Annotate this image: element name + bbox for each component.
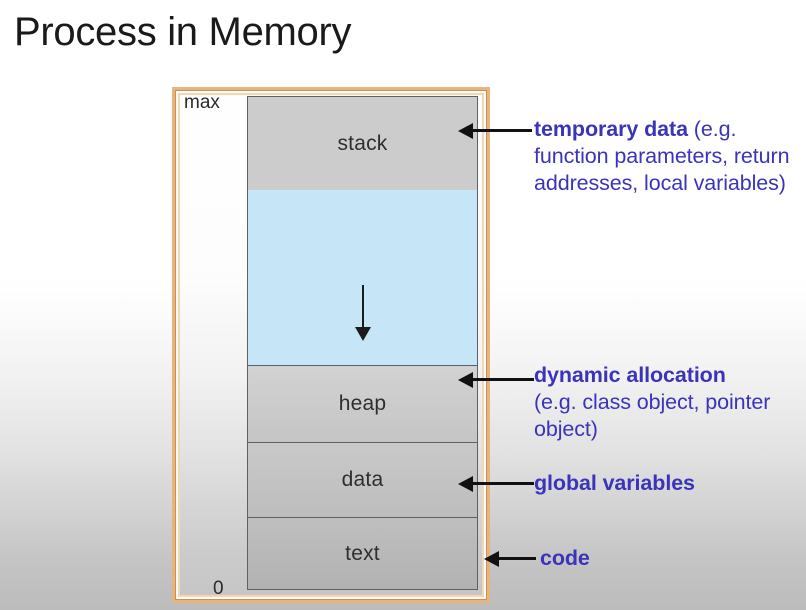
annotation-dynamic-allocation-detail: (e.g. class object, pointer object)	[534, 390, 770, 441]
memory-layout-column: stack heap data text	[247, 96, 478, 590]
leader-line-heap	[472, 378, 534, 381]
leader-arrow-heap-icon	[458, 372, 473, 388]
leader-arrow-stack-icon	[458, 123, 473, 139]
axis-label-max: max	[184, 92, 220, 114]
leader-arrow-text-icon	[484, 551, 499, 567]
annotation-temporary-data-heading: temporary data	[534, 117, 688, 141]
leader-line-data	[472, 482, 534, 485]
memory-segment-stack-label: stack	[337, 132, 387, 156]
memory-segment-data-label: data	[342, 468, 384, 492]
annotation-global-variables: global variables	[534, 470, 802, 497]
leader-line-text	[498, 557, 536, 560]
memory-segment-data: data	[247, 442, 478, 518]
leader-arrow-data-icon	[458, 476, 473, 492]
memory-segment-text-label: text	[345, 542, 380, 566]
memory-segment-heap: heap	[247, 365, 478, 443]
memory-segment-stack: stack	[247, 96, 478, 191]
memory-segment-heap-label: heap	[339, 392, 387, 416]
annotation-temporary-data: temporary data (e.g. function parameters…	[534, 116, 802, 197]
stack-growth-arrow-shaft	[362, 285, 365, 333]
page-title: Process in Memory	[14, 6, 351, 58]
annotation-code: code	[540, 545, 800, 572]
annotation-dynamic-allocation: dynamic allocation(e.g. class object, po…	[534, 362, 802, 443]
stack-growth-arrow-down-icon	[355, 327, 371, 341]
annotation-dynamic-allocation-heading: dynamic allocation	[534, 363, 726, 387]
memory-segment-text: text	[247, 517, 478, 590]
slide-canvas: Process in Memory max 0 stack heap data …	[0, 0, 806, 610]
leader-line-stack	[472, 129, 532, 132]
axis-label-zero: 0	[213, 578, 224, 600]
memory-segment-free-space	[247, 190, 478, 366]
